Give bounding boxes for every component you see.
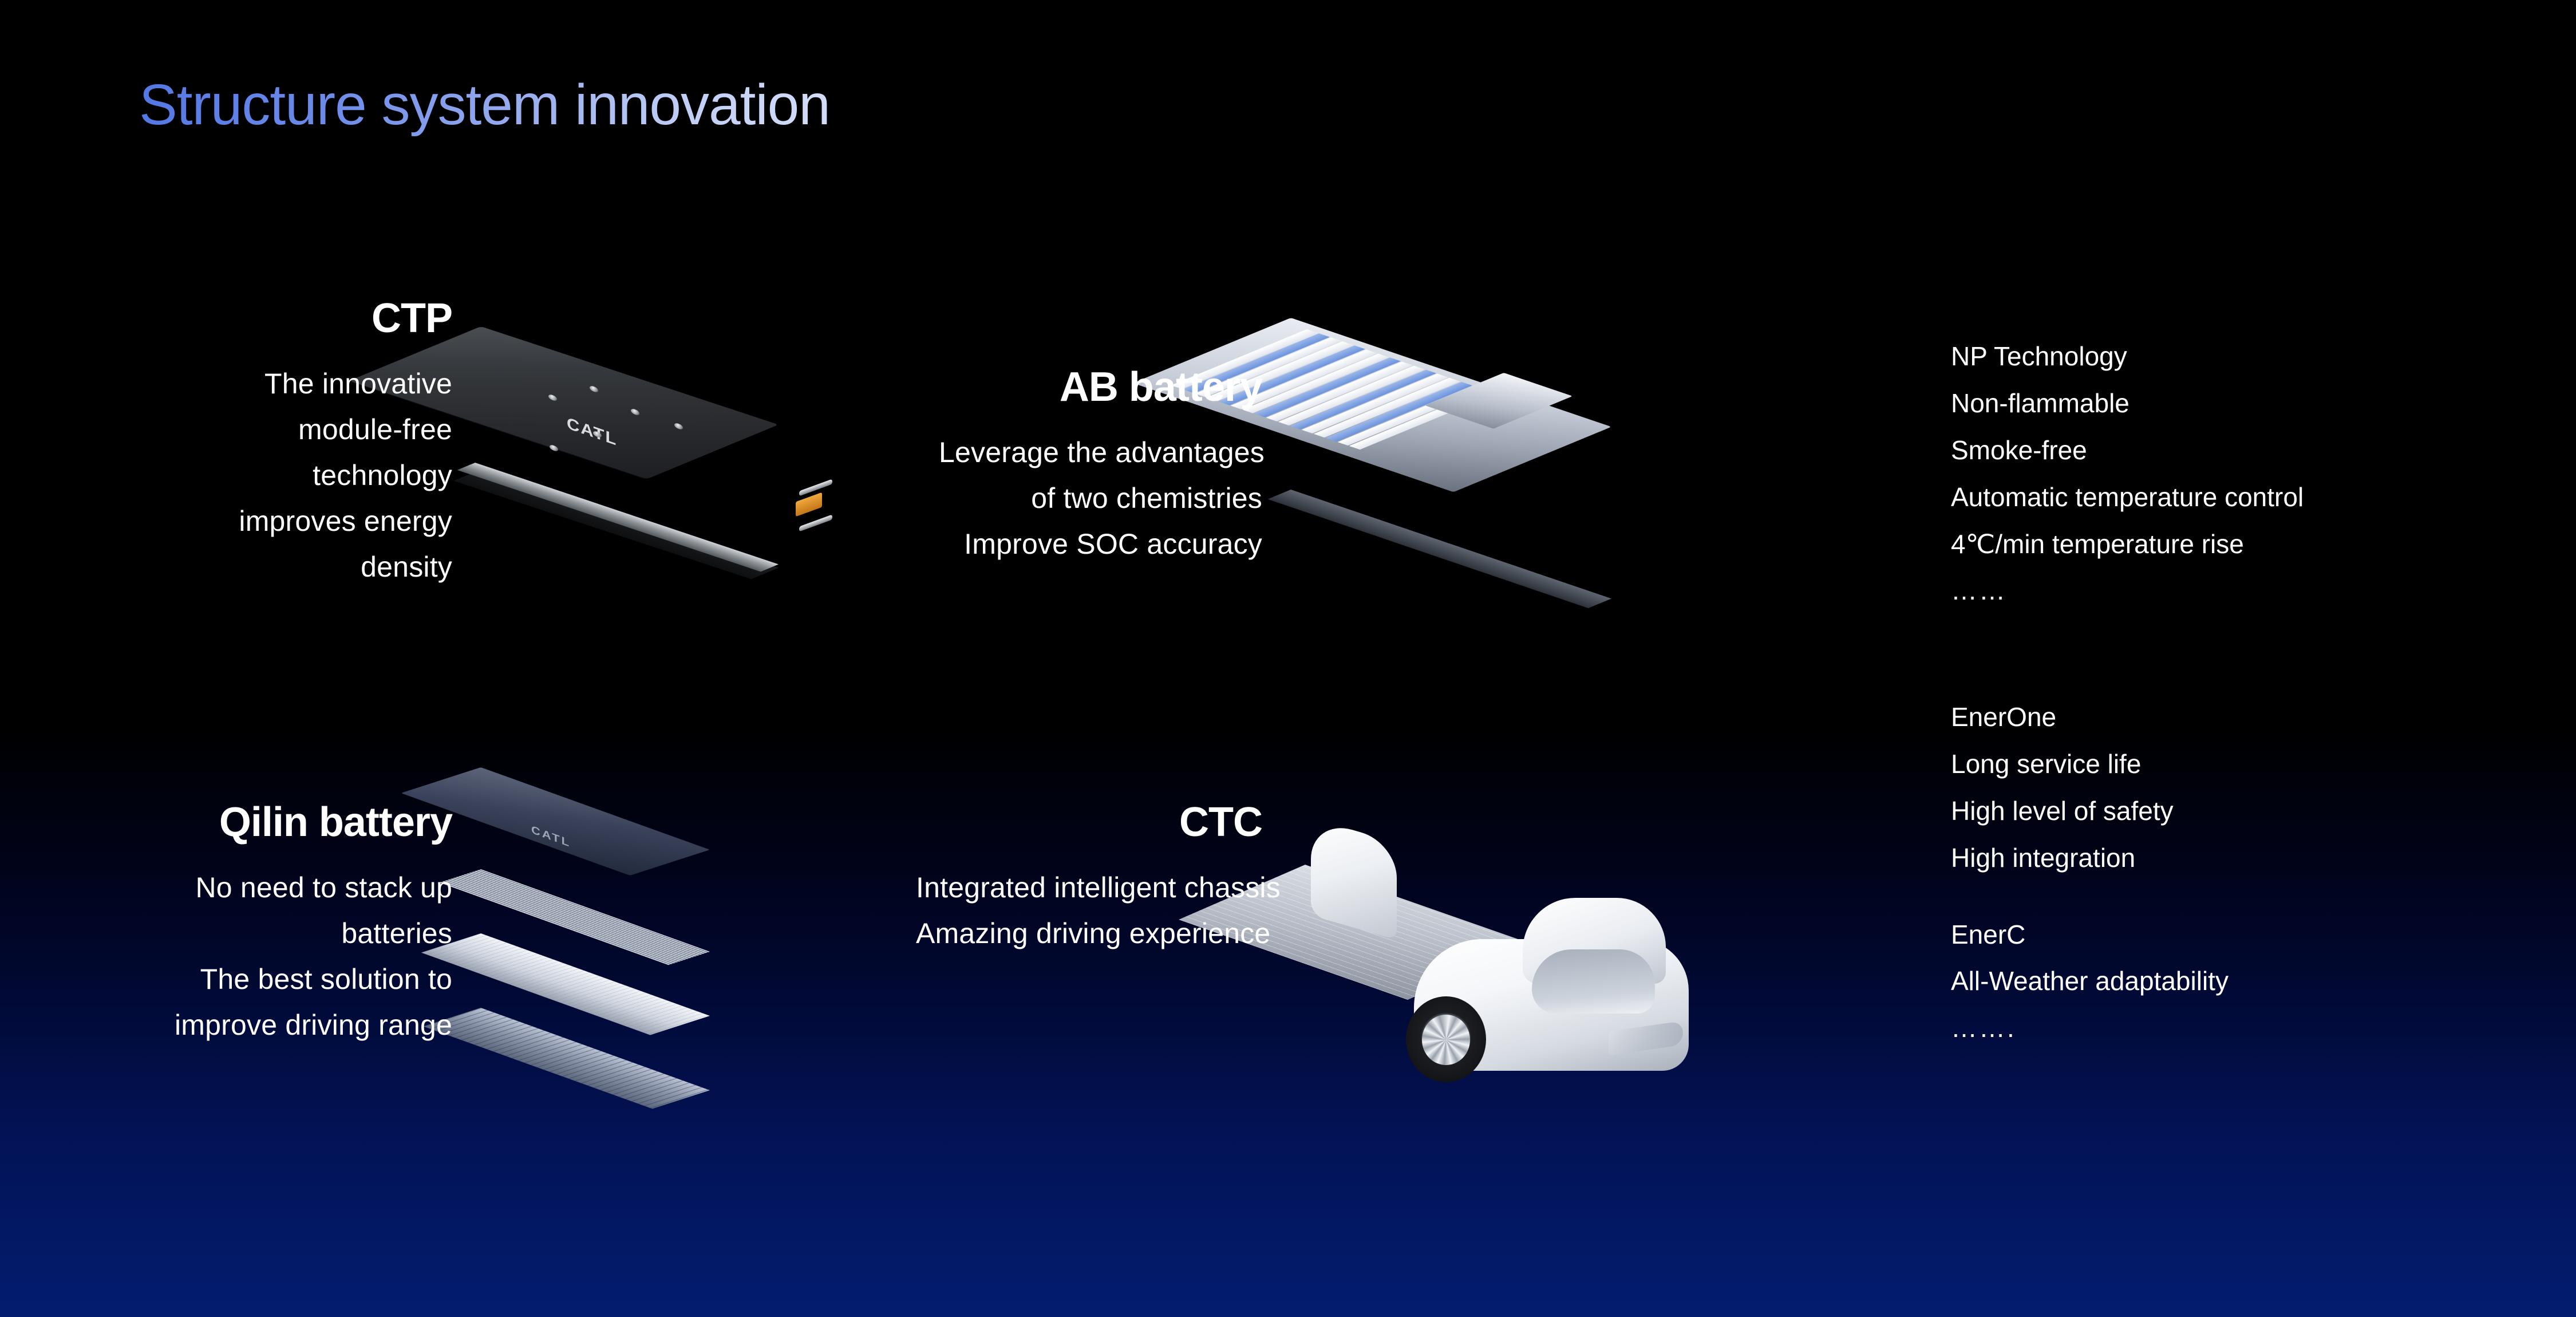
ctp-heading: CTP [189,298,452,339]
ctp-pack-tray [457,463,779,571]
feature-list-ellipsis: …… [1951,567,2304,614]
slide-canvas: Structure system innovation CATL CTP The… [0,0,2576,1317]
feature-list-item: All-Weather adaptability [1951,958,2229,1005]
ctc-wheel-hubcap [1422,1015,1470,1065]
ctc-chassis-image [1299,825,1700,1117]
feature-list-item: Automatic temperature control [1951,474,2304,521]
ab-battery-pack-image [1291,318,1657,558]
feature-list-item: Long service life [1951,741,2229,788]
panel-qilin-battery: Qilin battery No need to stack up batter… [132,802,452,1048]
ctc-heading: CTC [916,802,1262,843]
ctp-terminal-pin [799,479,832,496]
feature-list-item: Smoke-free [1951,427,2304,474]
list-spacer [1951,882,2229,912]
ctc-body-line: Amazing driving experience [916,910,1262,956]
qilin-body: No need to stack up batteries The best s… [132,865,452,1048]
ctp-body-line: The innovative [189,361,452,407]
panel-ctc: CTC Integrated intelligent chassis Amazi… [916,802,1262,956]
ctp-orange-connector [796,492,822,517]
ctc-body: Integrated intelligent chassis Amazing d… [916,865,1262,956]
ctc-body-line: Integrated intelligent chassis [916,865,1262,910]
ctp-pack-side-wall [453,470,779,579]
ctp-body-line: technology [189,452,452,498]
ab-body-line: of two chemistries [939,475,1262,521]
ab-body-line: Improve SOC accuracy [939,521,1262,567]
energy-product-feature-lists: EnerOne Long service life High level of … [1951,694,2229,1052]
qilin-heading: Qilin battery [132,802,452,843]
ab-heading: AB battery [939,366,1262,408]
feature-list-item: EnerOne [1951,694,2229,741]
qilin-body-line: No need to stack up [132,865,452,910]
ctp-body: The innovative module-free technology im… [189,361,452,590]
panel-ab-battery: AB battery Leverage the advantages of tw… [939,366,1262,567]
ab-body: Leverage the advantages of two chemistri… [939,429,1262,567]
panel-ctp: CTP The innovative module-free technolog… [189,298,452,590]
feature-list-item: High level of safety [1951,788,2229,835]
ctp-body-line: improves energy [189,498,452,544]
ctc-cabin-recess [1532,949,1655,1014]
ctp-terminal-pin [799,514,832,531]
ab-body-line: Leverage the advantages [939,429,1262,475]
ctp-body-line: density [189,544,452,590]
feature-list-item: Non-flammable [1951,380,2304,427]
feature-list-ellipsis: ……. [1951,1005,2229,1052]
ctp-battery-pack-image: CATL [481,309,836,550]
feature-list-item: EnerC [1951,912,2229,959]
qilin-body-line: improve driving range [132,1002,452,1048]
feature-list-item: 4℃/min temperature rise [1951,521,2304,568]
feature-list-item: NP Technology [1951,333,2304,380]
qilin-body-line: batteries [132,910,452,956]
qilin-battery-exploded-image: CATL [481,762,801,1117]
qilin-body-line: The best solution to [132,956,452,1002]
ctp-body-line: module-free [189,407,452,452]
feature-list-item: High integration [1951,835,2229,882]
ab-pack-housing-lip [1268,490,1611,608]
page-title: Structure system innovation [139,73,830,136]
np-technology-feature-list: NP Technology Non-flammable Smoke-free A… [1951,333,2304,614]
